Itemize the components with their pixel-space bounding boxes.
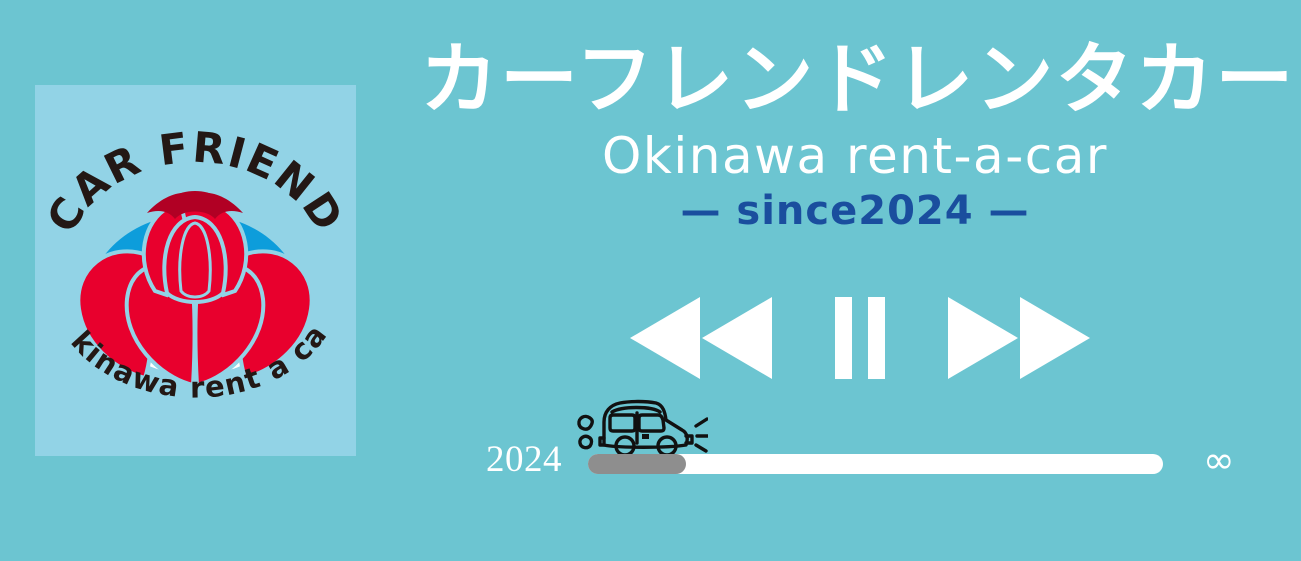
pause-button[interactable]	[825, 297, 895, 379]
rewind-icon-second	[702, 297, 772, 379]
logo-artwork: CAR FRIEND Okinawa rent a car	[35, 85, 356, 456]
brand-heading-group: カーフレンドレンタカー Okinawa rent-a-car — since20…	[420, 34, 1290, 236]
media-controls	[620, 297, 1100, 379]
brand-since-label: — since2024 —	[420, 186, 1290, 236]
timeline-start-label: 2024	[486, 440, 562, 480]
fast-forward-button[interactable]	[941, 297, 1097, 379]
timeline: 2024	[480, 388, 1240, 488]
progress-bar-track[interactable]	[588, 454, 1163, 474]
fast-forward-icon-second	[1020, 297, 1090, 379]
promo-banner: CAR FRIEND Okinawa rent a car カーフレンドレンタカ…	[0, 0, 1301, 561]
page-title: カーフレンドレンタカー	[420, 34, 1290, 126]
fast-forward-icon	[948, 297, 1018, 379]
brand-subtitle-en: Okinawa rent-a-car	[420, 126, 1290, 186]
pause-icon-bar-left	[835, 297, 852, 379]
car-progress-marker	[568, 388, 708, 460]
rewind-button[interactable]	[623, 297, 779, 379]
progress-bar-fill	[588, 454, 686, 474]
rewind-icon	[630, 297, 700, 379]
pause-icon-bar-right	[868, 297, 885, 379]
timeline-end-label: ∞	[1203, 440, 1235, 480]
car-friend-logo: CAR FRIEND Okinawa rent a car	[35, 85, 356, 456]
car-icon	[568, 388, 708, 460]
